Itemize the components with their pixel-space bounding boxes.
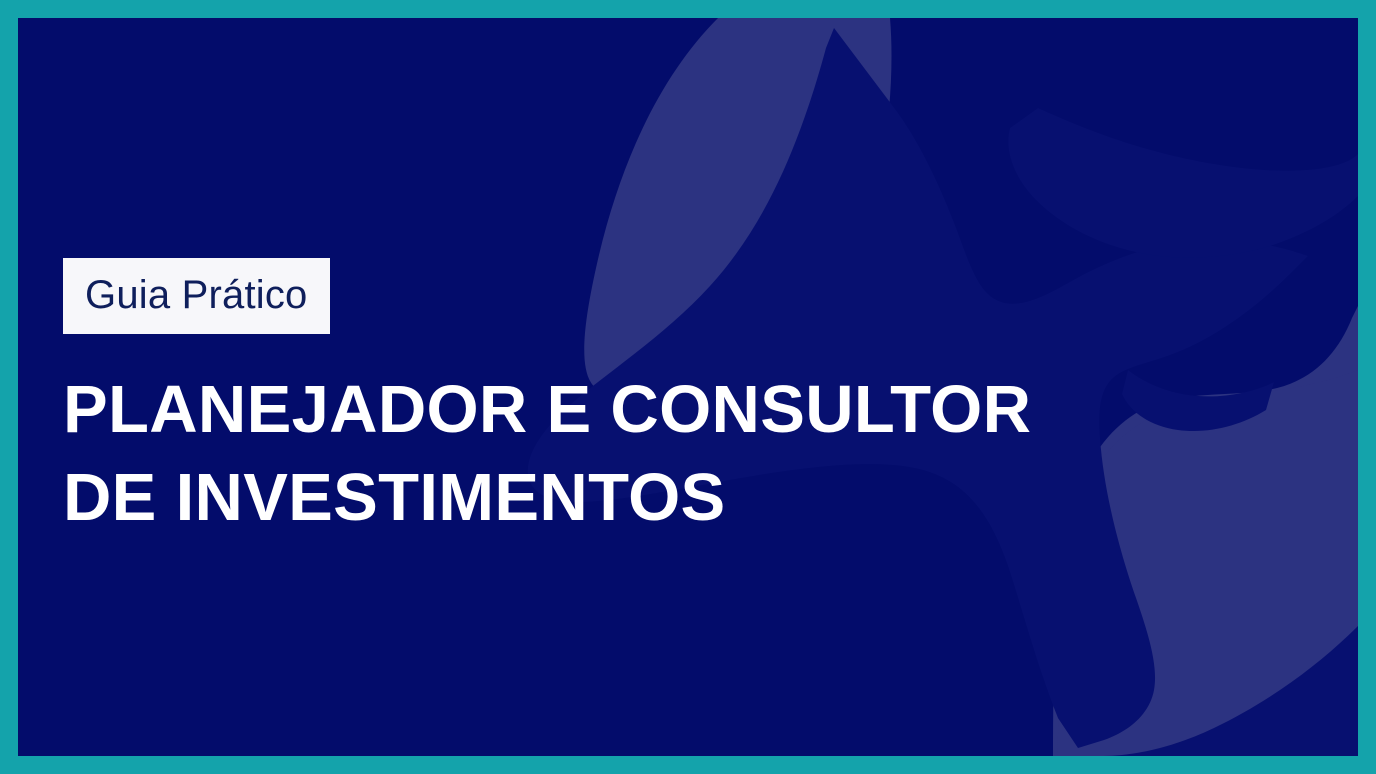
page-title-line-2: DE INVESTIMENTOS xyxy=(63,454,1123,542)
eyebrow-badge: Guia Prático xyxy=(63,258,330,334)
page-title: PLANEJADOR E CONSULTOR DE INVESTIMENTOS xyxy=(63,366,1123,542)
bull-lower-sweep xyxy=(1104,626,1358,756)
page-title-line-1: PLANEJADOR E CONSULTOR xyxy=(63,366,1123,454)
cover-stage: Guia Prático PLANEJADOR E CONSULTOR DE I… xyxy=(0,0,1376,774)
bull-horn-shape xyxy=(1008,108,1358,258)
cover-copy-block: Guia Prático PLANEJADOR E CONSULTOR DE I… xyxy=(63,258,1143,542)
cover-canvas: Guia Prático PLANEJADOR E CONSULTOR DE I… xyxy=(18,18,1358,756)
bull-chest-notch xyxy=(1122,370,1274,431)
